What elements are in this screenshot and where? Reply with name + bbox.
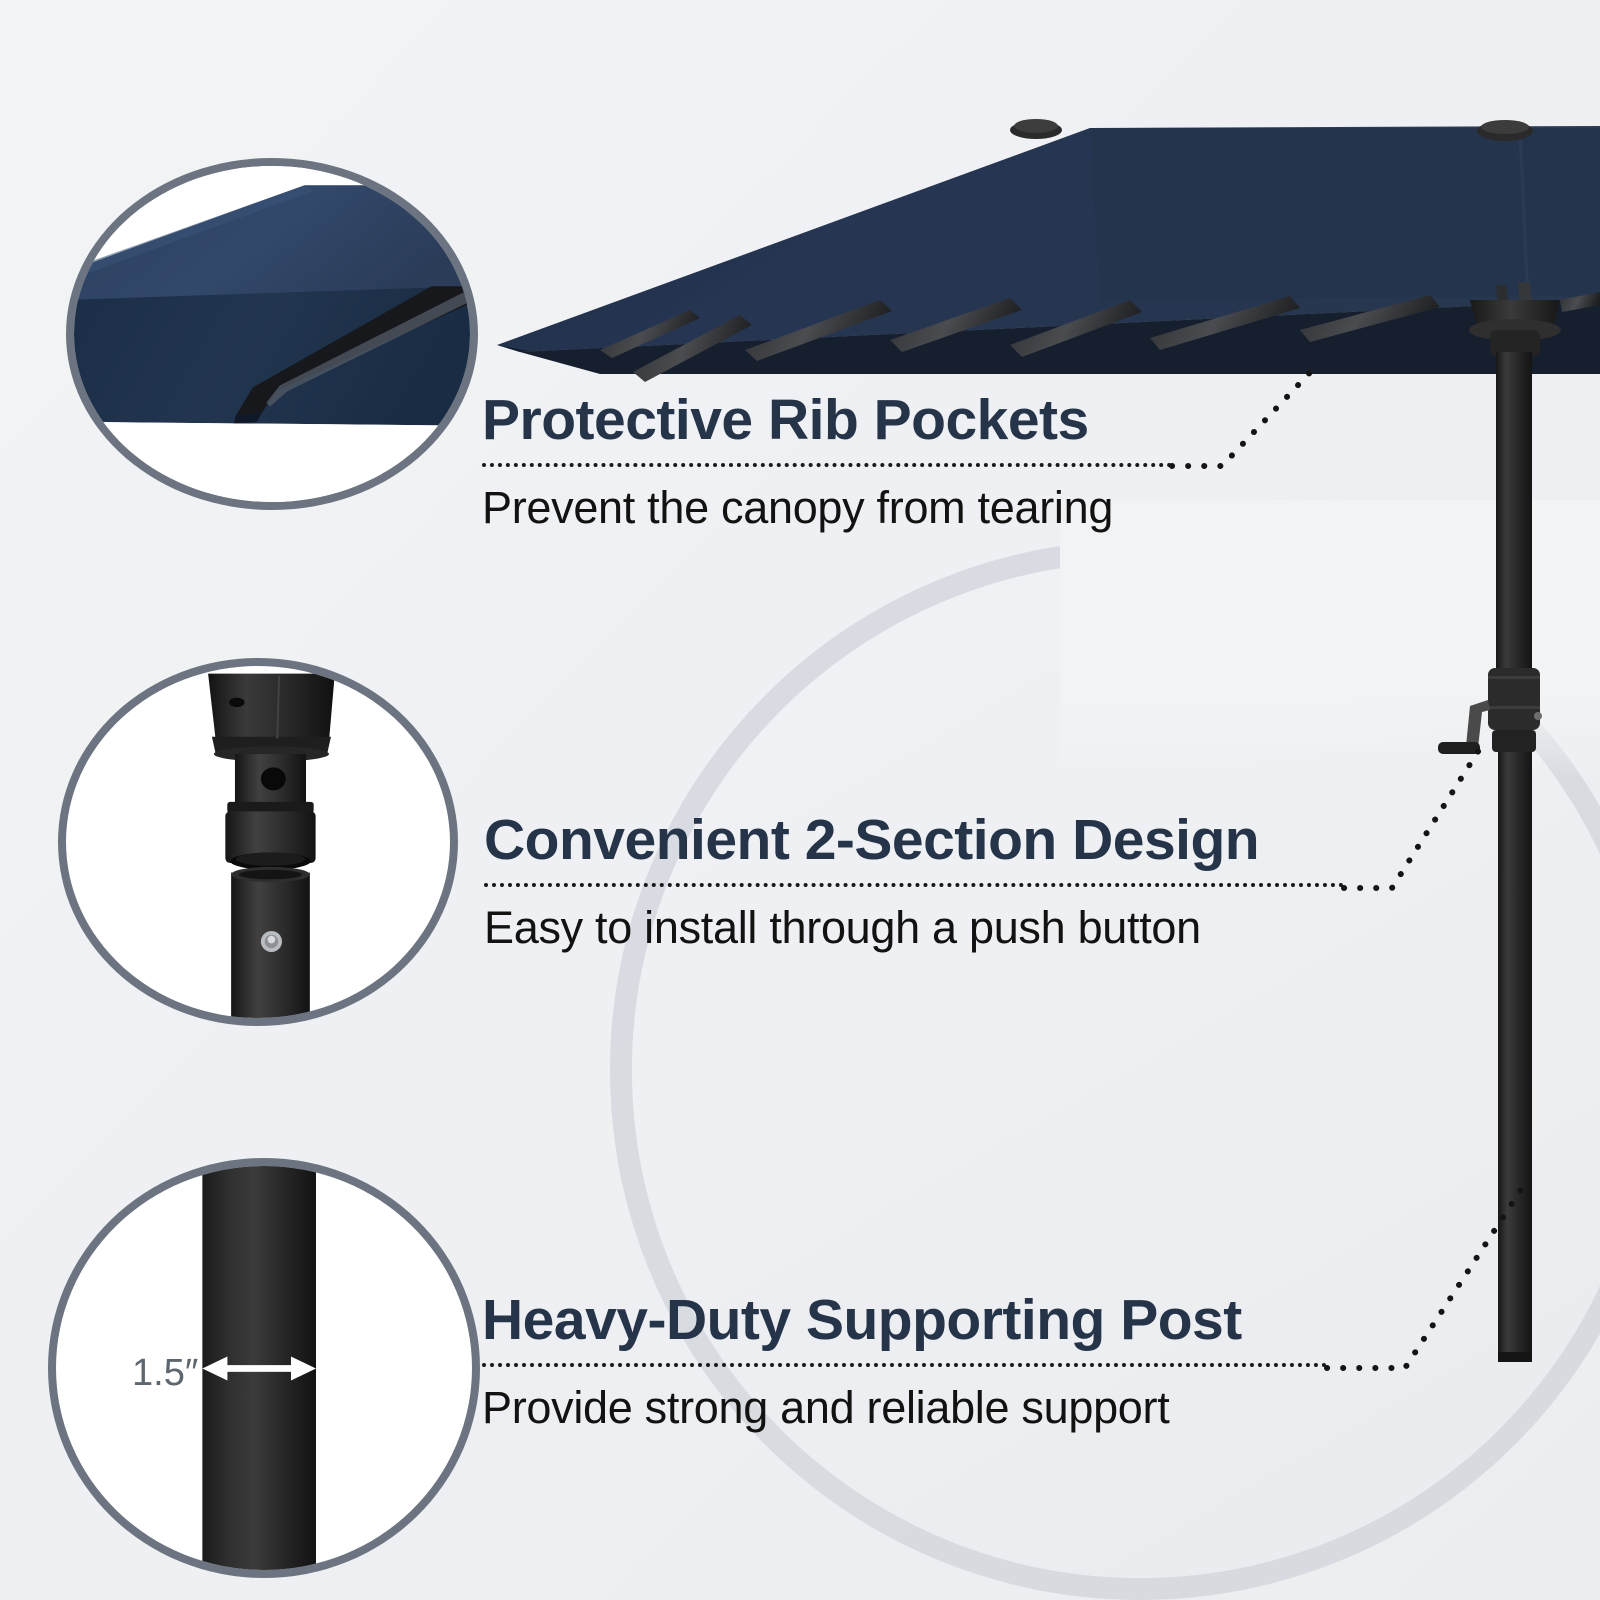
canopy-rib-group xyxy=(600,282,1600,382)
detail-circle-rib-pockets xyxy=(66,158,478,510)
canopy-top-panel xyxy=(497,128,1600,352)
canopy-rib xyxy=(745,300,892,361)
canopy-finial-cap xyxy=(1477,121,1533,141)
canopy-rib xyxy=(890,298,1022,352)
feature-title: Protective Rib Pockets xyxy=(482,392,1172,449)
canopy-finial-cap xyxy=(1010,121,1062,139)
canopy-rib xyxy=(633,315,752,382)
canopy-rib xyxy=(1150,296,1300,350)
feature-subtitle: Prevent the canopy from tearing xyxy=(482,485,1172,530)
feature-divider xyxy=(482,463,1172,467)
detail-circle-two-section-design xyxy=(58,658,458,1026)
feature-subtitle: Easy to install through a push button xyxy=(484,905,1344,950)
leader-line-rib-pockets xyxy=(1172,366,1316,466)
umbrella-hub-collar xyxy=(1469,319,1561,341)
canopy-rib xyxy=(1560,292,1600,312)
pole-connector-push-button-closeup xyxy=(66,666,450,1018)
canopy-rib xyxy=(1300,295,1440,342)
feature-text-supporting-post: Heavy-Duty Supporting Post Provide stron… xyxy=(482,1292,1327,1430)
feature-title: Convenient 2-Section Design xyxy=(484,812,1344,869)
pole-diameter-label: 1.5″ xyxy=(132,1352,198,1395)
canopy-rib xyxy=(600,310,700,358)
canopy-rib xyxy=(1010,300,1142,357)
feature-divider xyxy=(482,1363,1327,1367)
canopy-top-right-panel xyxy=(1090,126,1600,300)
detail-circle-supporting-post: 1.5″ xyxy=(48,1158,480,1578)
canopy-strut xyxy=(1496,285,1512,330)
canopy-underside-shade xyxy=(520,300,1600,374)
feature-text-two-section: Convenient 2-Section Design Easy to inst… xyxy=(484,812,1344,950)
canopy-rib-pocket-closeup xyxy=(74,166,470,502)
feature-divider xyxy=(484,883,1344,887)
canopy-underside xyxy=(497,300,1600,372)
umbrella-hub-body xyxy=(1490,330,1540,356)
umbrella-hub xyxy=(1470,300,1560,330)
feature-subtitle: Provide strong and reliable support xyxy=(482,1385,1327,1430)
background-ring-mask xyxy=(1060,500,1600,780)
canopy-finial-cap-top xyxy=(1014,119,1058,133)
pole-diameter-closeup xyxy=(56,1166,472,1570)
infographic-canvas: 1.5″ Protective Rib Pockets Prevent the … xyxy=(0,0,1600,1600)
canopy-finial-cap-top xyxy=(1481,120,1529,134)
feature-text-rib-pockets: Protective Rib Pockets Prevent the canop… xyxy=(482,392,1172,530)
canopy-strut xyxy=(1518,282,1534,330)
feature-title: Heavy-Duty Supporting Post xyxy=(482,1292,1327,1349)
